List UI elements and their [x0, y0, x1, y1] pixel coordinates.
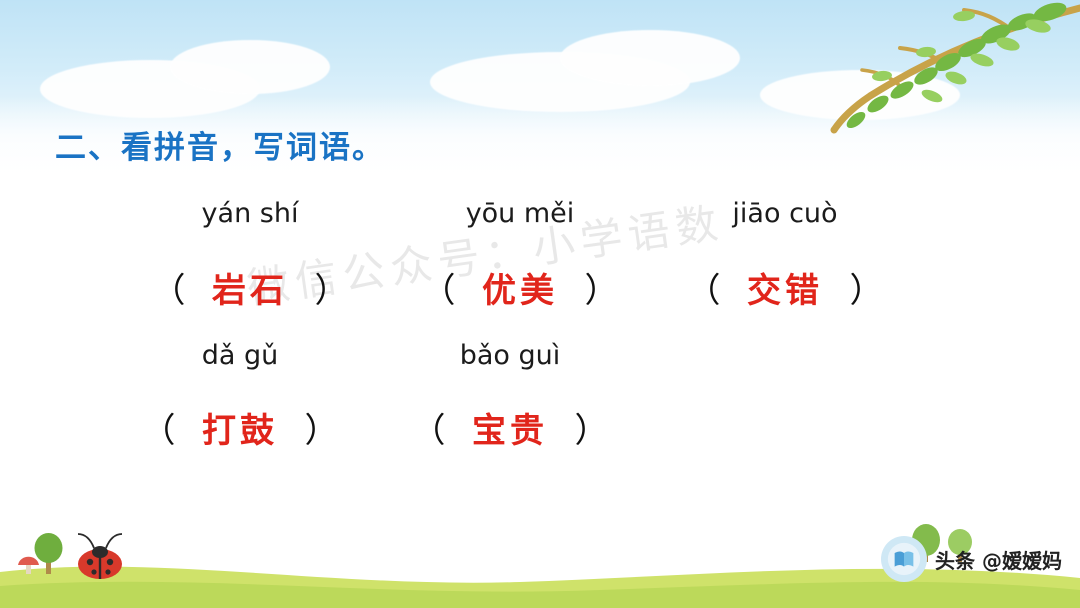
pinyin-text: yán shí [202, 198, 299, 229]
answer-word: 优美 [482, 271, 558, 311]
cloud-shape [560, 30, 740, 86]
pinyin-cell: bǎo guì [380, 340, 640, 371]
answer-cell[interactable]: （ 交错 ） [655, 263, 915, 312]
cloud-shape [170, 40, 330, 94]
pinyin-row: dǎ gǔ bǎo guì [0, 340, 1080, 380]
answer-word: 岩石 [212, 271, 288, 311]
open-paren: （ [687, 271, 721, 311]
answer-row: （ 打鼓 ） （ 宝贵 ） [0, 403, 1080, 455]
pinyin-cell: yōu měi [390, 198, 650, 229]
branch-decoration [750, 0, 1080, 150]
logo-text: 头条 @嫒嫒妈 [935, 545, 1062, 574]
ladybug-and-trees-decoration [18, 522, 158, 580]
answer-row: （ 岩石 ） （ 优美 ） （ 交错 ） [0, 263, 1080, 315]
book-icon [887, 542, 921, 576]
logo-badge [881, 536, 927, 582]
answer-cell[interactable]: （ 岩石 ） [120, 263, 380, 312]
open-paren: （ [412, 411, 446, 451]
close-paren: ） [575, 411, 609, 451]
pinyin-row: yán shí yōu měi jiāo cuò [0, 198, 1080, 238]
answer-word: 交错 [747, 271, 823, 311]
pinyin-text: bǎo guì [460, 340, 561, 371]
close-paren: ） [305, 411, 339, 451]
open-paren: （ [422, 271, 456, 311]
open-paren: （ [152, 271, 186, 311]
channel-logo: 头条 @嫒嫒妈 [881, 536, 1062, 582]
answer-word: 打鼓 [202, 411, 278, 451]
open-paren: （ [142, 411, 176, 451]
pinyin-cell: yán shí [120, 198, 380, 229]
pinyin-cell: jiāo cuò [655, 198, 915, 229]
slide-canvas: 二、看拼音，写词语。 微信公众号：小学语数 yán shí yōu měi ji… [0, 0, 1080, 608]
answer-cell[interactable]: （ 优美 ） [390, 263, 650, 312]
close-paren: ） [315, 271, 349, 311]
answer-cell[interactable]: （ 打鼓 ） [110, 403, 370, 452]
pinyin-text: dǎ gǔ [202, 340, 279, 371]
close-paren: ） [850, 271, 884, 311]
close-paren: ） [585, 271, 619, 311]
pinyin-cell: dǎ gǔ [110, 340, 370, 371]
pinyin-text: yōu měi [466, 198, 575, 229]
page-title: 二、看拼音，写词语。 [55, 122, 385, 167]
answer-word: 宝贵 [472, 411, 548, 451]
pinyin-text: jiāo cuò [732, 198, 837, 229]
answer-cell[interactable]: （ 宝贵 ） [380, 403, 640, 452]
